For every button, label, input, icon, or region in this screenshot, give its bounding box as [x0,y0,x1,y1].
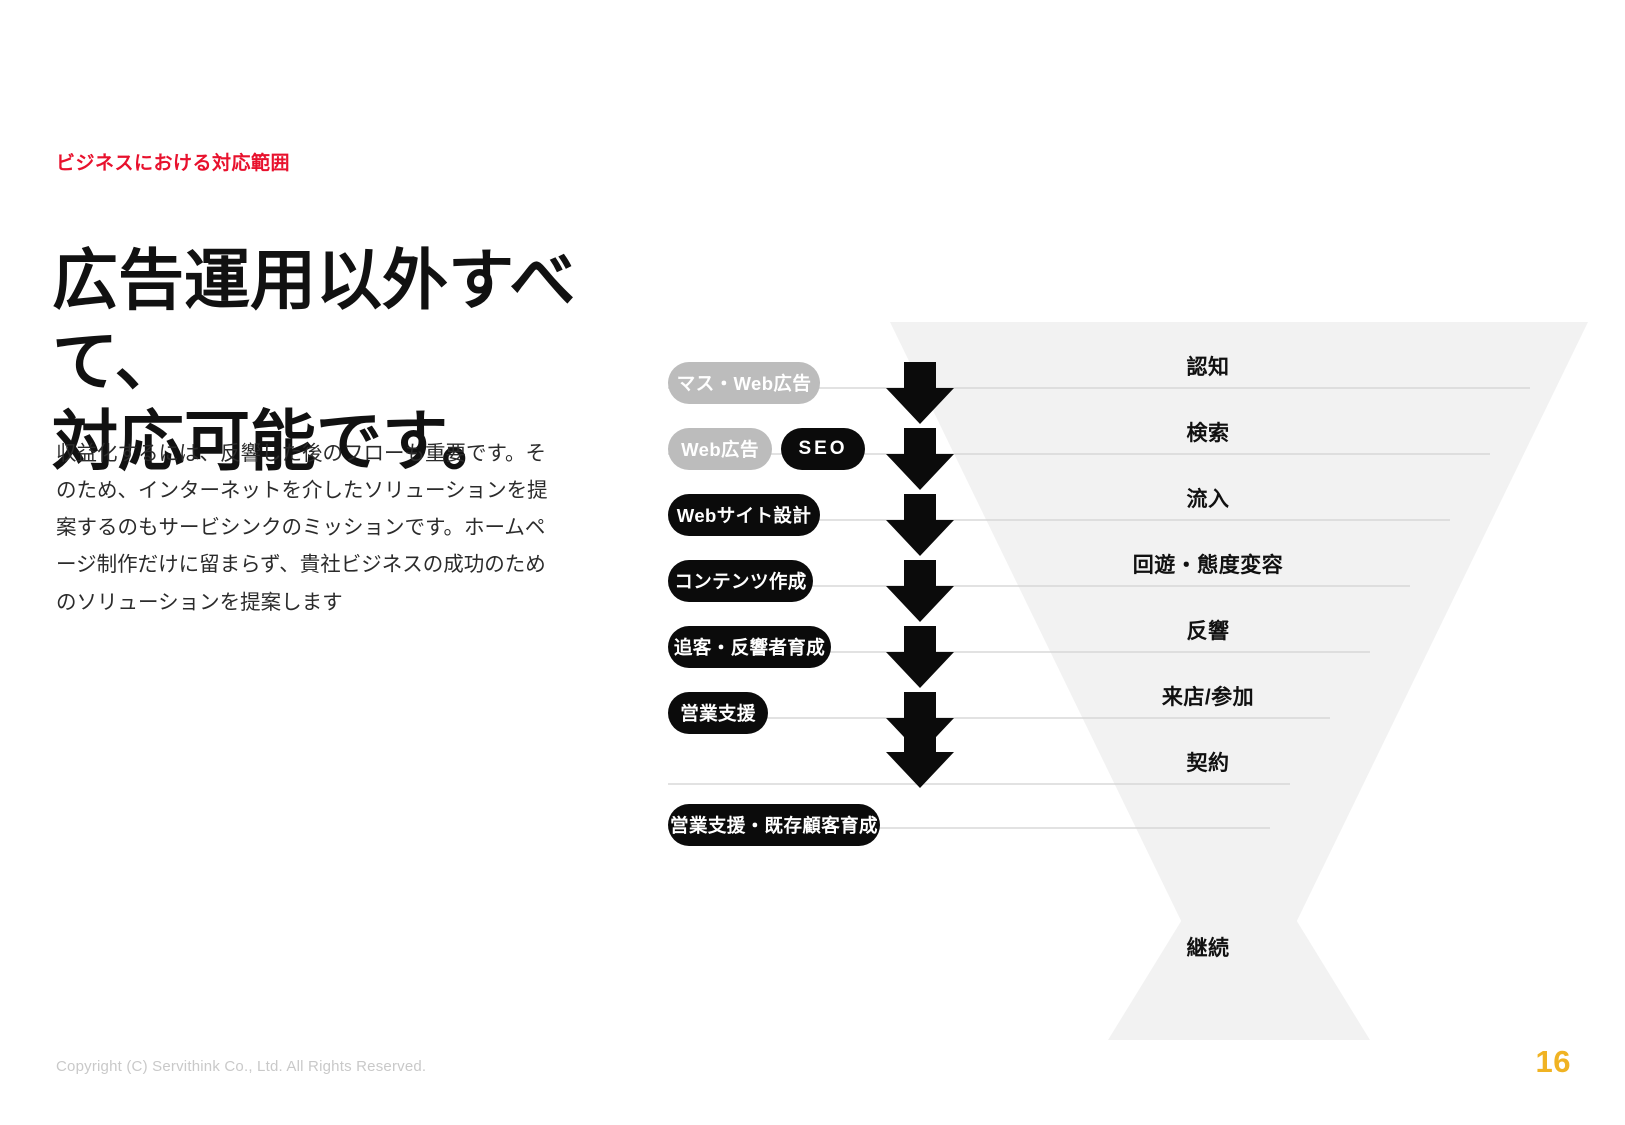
service-pill-web-ads[interactable]: Web広告 [668,428,772,470]
funnel-stage-inflow: 流入 [1187,483,1230,513]
service-pill-label: 追客・反響者育成 [674,634,825,660]
service-pill-sales-and-existing-customer[interactable]: 営業支援・既存顧客育成 [668,804,880,846]
funnel-stage-response: 反響 [1187,615,1230,645]
flow-arrow-5 [886,626,954,688]
service-pill-label: Web広告 [681,436,759,462]
service-pill-label: 営業支援 [680,700,756,726]
flow-arrow-7 [886,726,954,788]
flow-arrow-2 [886,428,954,490]
funnel-triangle-up [1108,827,1370,1040]
section-eyebrow: ビジネスにおける対応範囲 [56,148,290,175]
slide-canvas: ビジネスにおける対応範囲 広告運用以外すべて、 対応可能です。 収益化するには、… [0,0,1625,1125]
flow-arrow-3 [886,494,954,556]
funnel-stage-browsing-attitude-change: 回遊・態度変容 [1133,549,1284,579]
headline-line-1: 広告運用以外すべて、 [52,240,672,401]
funnel-shapes [640,300,1615,1060]
service-pill-website-design[interactable]: Webサイト設計 [668,494,820,536]
flow-arrow-4 [886,560,954,622]
body-paragraph: 収益化するには、反響した後のフローも重要です。そのため、インターネットを介したソ… [56,436,556,622]
service-pill-content-creation[interactable]: コンテンツ作成 [668,560,813,602]
service-pill-label: マス・Web広告 [677,370,811,396]
service-pill-label: Webサイト設計 [677,502,811,528]
service-pill-lead-nurturing[interactable]: 追客・反響者育成 [668,626,831,668]
footer-copyright: Copyright (C) Servithink Co., Ltd. All R… [56,1058,426,1075]
funnel-stage-visit-participation: 来店/参加 [1162,681,1254,711]
funnel-stage-awareness: 認知 [1187,351,1230,381]
funnel-stage-search: 検索 [1187,417,1230,447]
service-pill-label: 営業支援・既存顧客育成 [670,812,878,838]
funnel-stage-contract: 契約 [1187,747,1230,777]
service-pill-sales-support[interactable]: 営業支援 [668,692,768,734]
service-pill-label: コンテンツ作成 [674,568,806,594]
service-pill-mass-web-ads[interactable]: マス・Web広告 [668,362,820,404]
service-pill-label: SEO [798,438,847,460]
service-pill-seo[interactable]: SEO [781,428,865,470]
page-number: 16 [1536,1044,1571,1080]
marketing-funnel-diagram: マス・Web広告 Web広告 SEO Webサイト設計 コンテンツ作成 追客・反… [640,300,1615,1060]
funnel-stage-retention: 継続 [1187,932,1230,962]
